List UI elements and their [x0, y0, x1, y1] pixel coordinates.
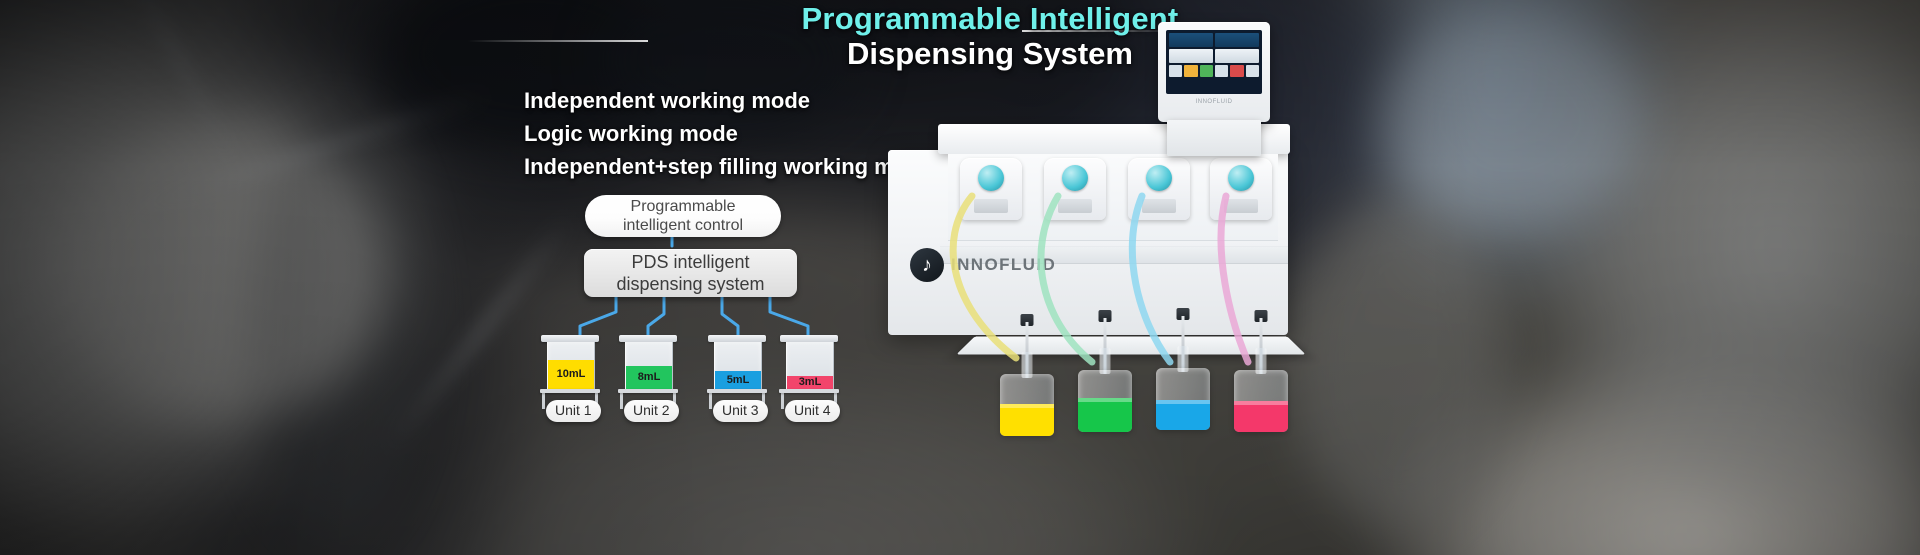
hmi-chip-1	[1169, 65, 1182, 77]
beaker-body: 10mL	[547, 342, 595, 389]
callout-programmable-intelligent-control[interactable]: Programmable intelligent control	[585, 195, 781, 237]
unit-label-1[interactable]: Unit 1	[546, 400, 601, 422]
promo-banner: Programmable Intelligent Dispensing Syst…	[0, 0, 1920, 555]
bottle-fill-3	[1156, 400, 1210, 430]
working-mode-item-2: Logic working mode	[524, 117, 933, 150]
hmi-chip-3	[1200, 65, 1213, 77]
beaker-volume-label-unit-3: 5mL	[727, 374, 750, 386]
title-rule-left	[468, 40, 648, 42]
beaker-volume-label-unit-4: 3mL	[799, 376, 822, 388]
hmi-touch-panel[interactable]: INNOFLUID	[1158, 22, 1270, 122]
beaker-stand	[540, 389, 600, 393]
beaker-rim	[619, 335, 677, 342]
hmi-chip-6	[1246, 65, 1259, 77]
hmi-screen-cell-4	[1215, 49, 1259, 63]
bottle-fill-4	[1234, 401, 1288, 432]
hmi-chip-5	[1230, 65, 1243, 77]
bottle-fill-2	[1078, 398, 1132, 432]
bottle-glass	[1000, 374, 1054, 436]
bottle-glass	[1156, 368, 1210, 430]
hmi-screen-cell-1	[1169, 33, 1213, 47]
beaker-liquid-unit-3: 5mL	[715, 371, 761, 389]
machine-brand: ♪ INNOFLUID	[910, 248, 1056, 282]
beaker-liquid-unit-4: 3mL	[787, 376, 833, 389]
beaker-stand	[707, 389, 767, 393]
pump-head-2	[1044, 158, 1106, 220]
beaker-body: 8mL	[625, 342, 673, 389]
machine-bottle-tray	[956, 336, 1305, 354]
working-modes-list: Independent working mode Logic working m…	[524, 84, 933, 183]
hmi-screen-cell-2	[1215, 33, 1259, 47]
beaker-liquid-unit-1: 10mL	[548, 360, 594, 389]
beaker-body: 5mL	[714, 342, 762, 389]
unit-label-4[interactable]: Unit 4	[785, 400, 840, 422]
hmi-chip-4	[1215, 65, 1228, 77]
callout-2-line-1: PDS intelligent	[631, 251, 749, 273]
bottle-glass	[1234, 370, 1288, 432]
hmi-stand	[1167, 120, 1261, 156]
beaker-volume-label-unit-1: 10mL	[557, 368, 586, 380]
unit-label-3[interactable]: Unit 3	[713, 400, 768, 422]
hmi-screen-button-row	[1169, 65, 1259, 77]
beaker-body: 3mL	[786, 342, 834, 389]
beaker-rim	[708, 335, 766, 342]
hmi-chip-2	[1184, 65, 1197, 77]
beaker-stand	[618, 389, 678, 393]
callout-pds-intelligent-dispensing-system[interactable]: PDS intelligent dispensing system	[584, 249, 797, 297]
callout-1-line-1: Programmable	[631, 197, 736, 216]
beaker-stand	[779, 389, 839, 393]
pump-head-4	[1210, 158, 1272, 220]
pump-head-1	[960, 158, 1022, 220]
beaker-rim	[541, 335, 599, 342]
callout-2-line-2: dispensing system	[616, 273, 764, 295]
working-mode-item-3: Independent+step filling working mode	[524, 150, 933, 183]
bottle-fill-1	[1000, 404, 1054, 436]
beaker-liquid-unit-2: 8mL	[626, 366, 672, 390]
working-mode-item-1: Independent working mode	[524, 84, 933, 117]
beaker-volume-label-unit-2: 8mL	[638, 371, 661, 383]
hmi-screen-cell-3	[1169, 49, 1213, 63]
pump-head-3	[1128, 158, 1190, 220]
hmi-screen[interactable]	[1166, 30, 1262, 94]
beaker-rim	[780, 335, 838, 342]
machine-brand-name: INNOFLUID	[951, 255, 1056, 275]
innofluid-logo-icon: ♪	[910, 248, 944, 282]
callout-1-line-2: intelligent control	[623, 216, 743, 235]
hmi-caption: INNOFLUID	[1166, 99, 1262, 105]
unit-label-2[interactable]: Unit 2	[624, 400, 679, 422]
bottle-glass	[1078, 370, 1132, 432]
